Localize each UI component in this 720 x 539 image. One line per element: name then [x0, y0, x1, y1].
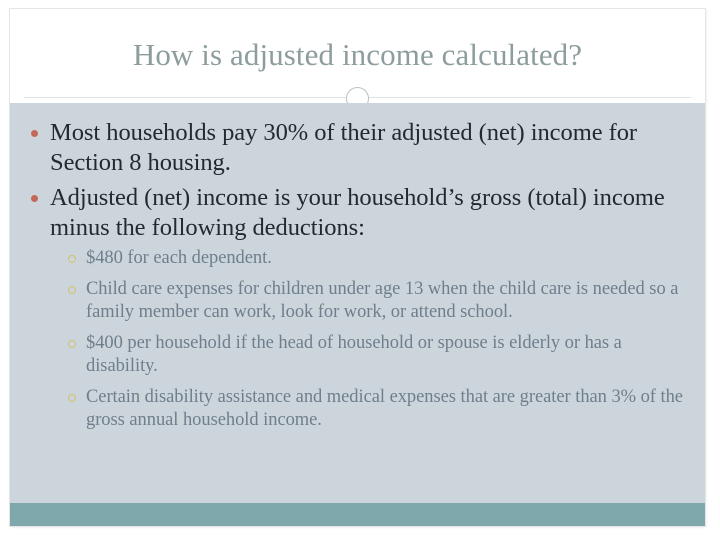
sub-bullet-text: Child care expenses for children under a…	[86, 278, 687, 324]
list-item: Child care expenses for children under a…	[62, 278, 687, 324]
filled-circle-bullet-icon	[31, 195, 38, 202]
list-item: Certain disability assistance and medica…	[62, 386, 687, 432]
list-item: $480 for each dependent.	[62, 247, 687, 270]
sub-bullet-text: Certain disability assistance and medica…	[86, 386, 687, 432]
filled-circle-bullet-icon	[31, 130, 38, 137]
list-item: $400 per household if the head of househ…	[62, 332, 687, 378]
hollow-circle-bullet-icon	[68, 340, 76, 348]
footer-accent-bar	[10, 503, 705, 526]
bullet-text: Most households pay 30% of their adjuste…	[50, 118, 687, 178]
bullet-text: Adjusted (net) income is your household’…	[50, 183, 687, 243]
slide-content: Most households pay 30% of their adjuste…	[10, 103, 705, 503]
hollow-circle-bullet-icon	[68, 394, 76, 402]
sub-bullet-text: $480 for each dependent.	[86, 247, 687, 270]
sub-bullet-container: $480 for each dependent. Child care expe…	[50, 247, 687, 432]
list-item: Most households pay 30% of their adjuste…	[24, 118, 687, 178]
hollow-circle-bullet-icon	[68, 255, 76, 263]
list-item: Adjusted (net) income is your household’…	[24, 183, 687, 432]
sub-bullet-text: $400 per household if the head of househ…	[86, 332, 687, 378]
bullet-list-level1: Most households pay 30% of their adjuste…	[24, 118, 687, 432]
page-title: How is adjusted income calculated?	[10, 36, 705, 74]
bullet-list-level2: $480 for each dependent. Child care expe…	[62, 247, 687, 432]
slide: How is adjusted income calculated? Most …	[10, 9, 705, 526]
hollow-circle-bullet-icon	[68, 286, 76, 294]
